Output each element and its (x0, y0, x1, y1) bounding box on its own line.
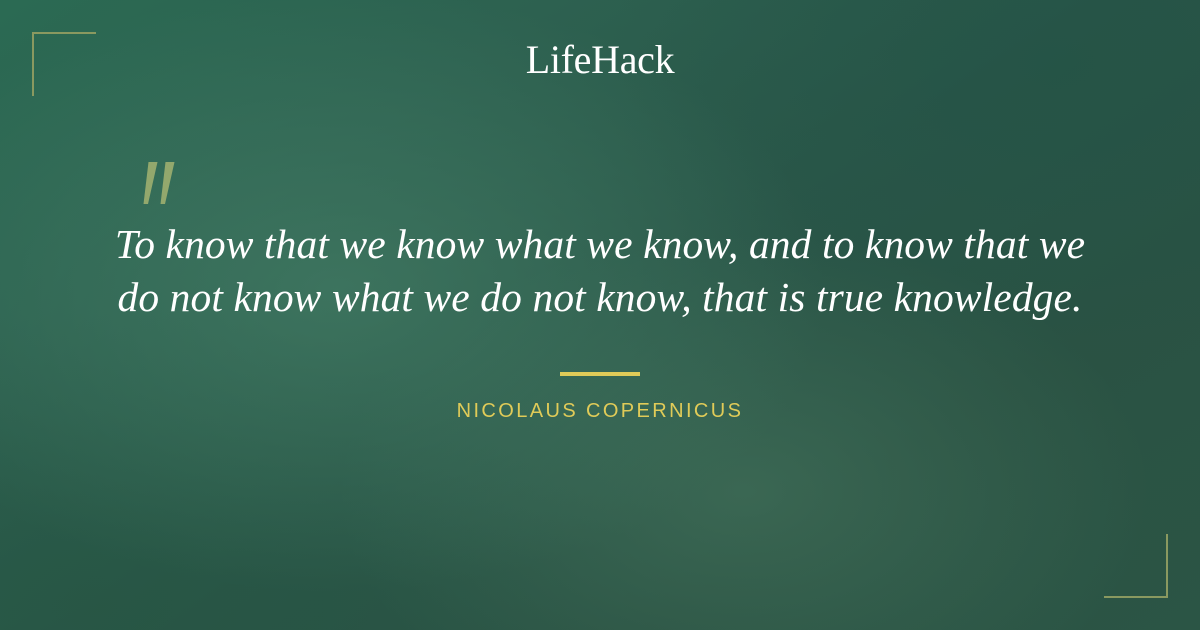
quote-text: To know that we know what we know, and t… (82, 218, 1118, 324)
quote-block: To know that we know what we know, and t… (82, 160, 1118, 423)
double-quote-mark-icon (134, 160, 1118, 212)
quote-line-2: do not know what we do not know, that is… (82, 271, 1118, 324)
quote-divider (560, 372, 640, 376)
brand-logo: LifeHack (0, 38, 1200, 82)
quote-author: NICOLAUS COPERNICUS (82, 400, 1118, 423)
corner-bracket-bottom-right-icon (1104, 534, 1168, 598)
quote-card: LifeHack To know that we know what we kn… (0, 0, 1200, 630)
quote-line-1: To know that we know what we know, and t… (82, 218, 1118, 271)
